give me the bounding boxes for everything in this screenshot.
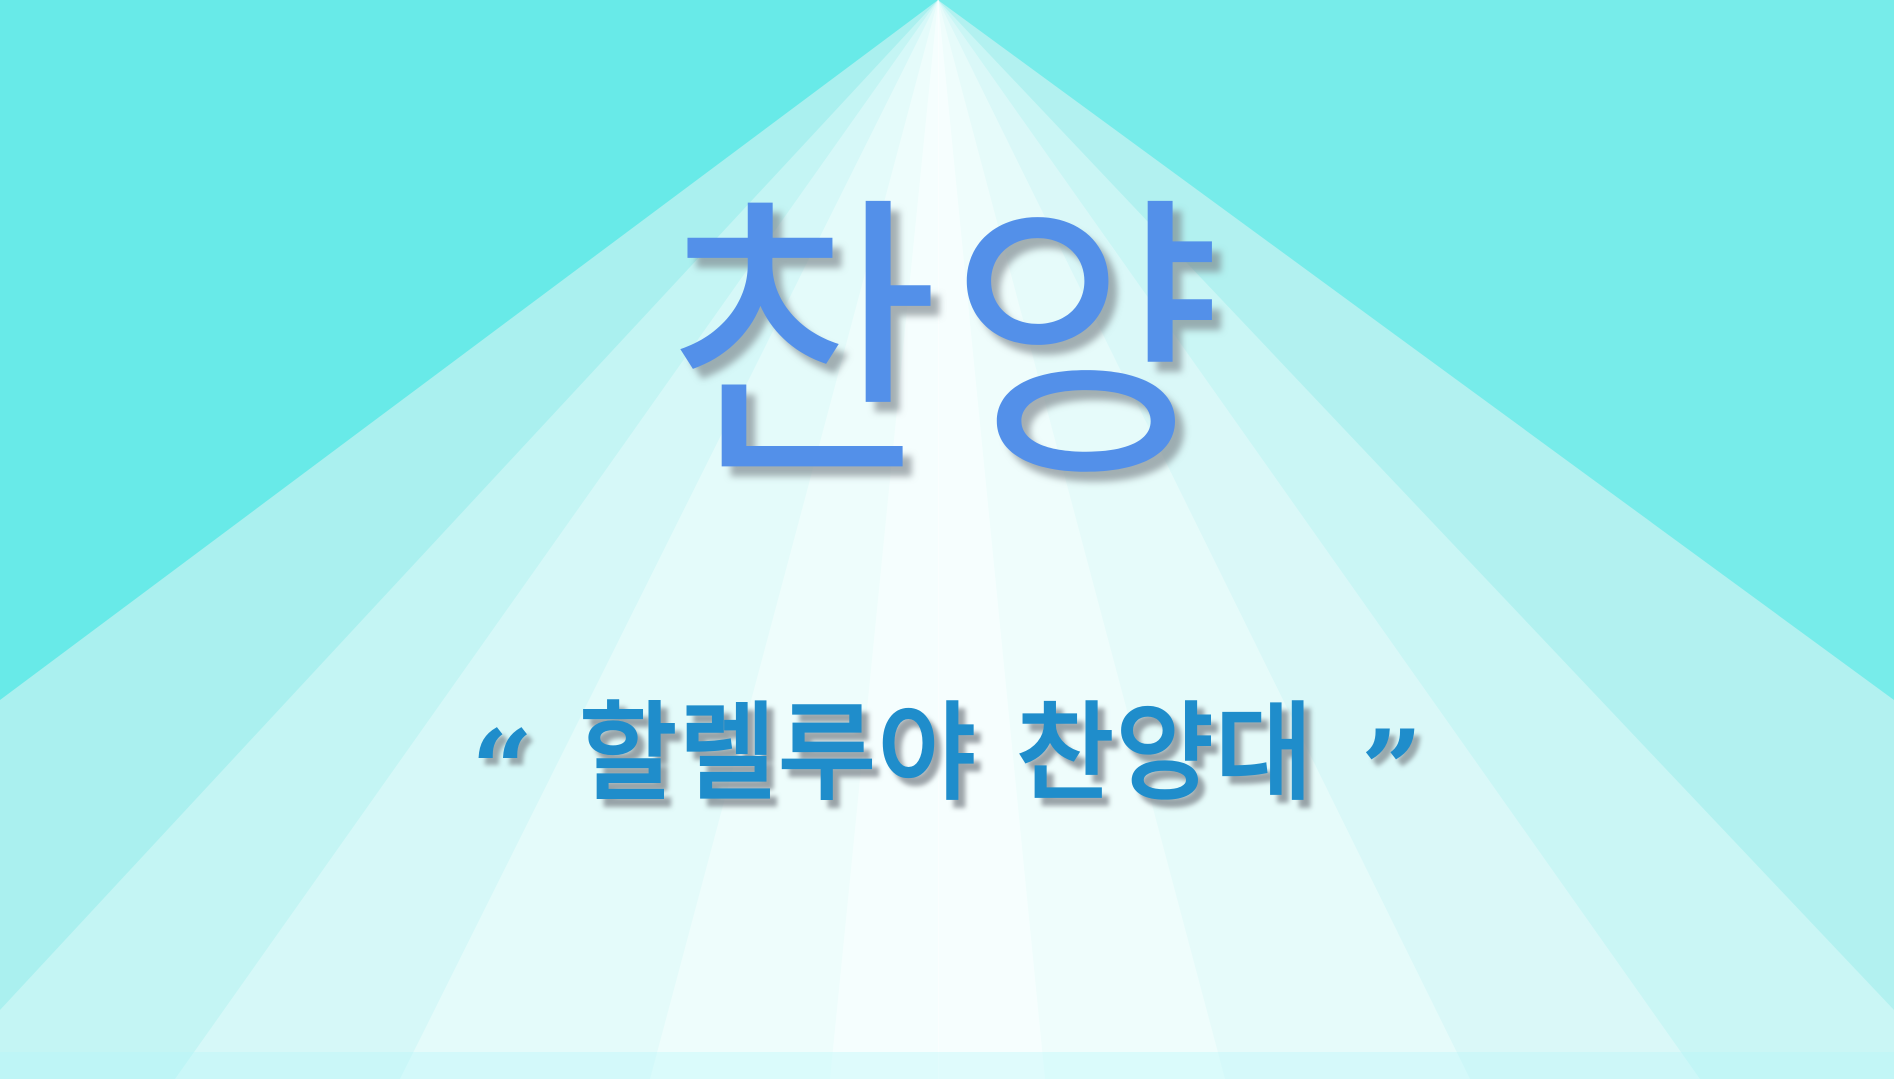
slide-content: 찬양 “ 할렐루야 찬양대 ”: [0, 0, 1894, 1079]
close-quote-icon: ”: [1361, 716, 1423, 824]
title-slide: 찬양 “ 할렐루야 찬양대 ”: [0, 0, 1894, 1079]
subtitle-label: 할렐루야 찬양대: [579, 701, 1315, 807]
slide-subtitle: “ 할렐루야 찬양대 ”: [0, 700, 1894, 808]
open-quote-icon: “: [471, 716, 533, 824]
slide-title: 찬양: [0, 196, 1894, 496]
